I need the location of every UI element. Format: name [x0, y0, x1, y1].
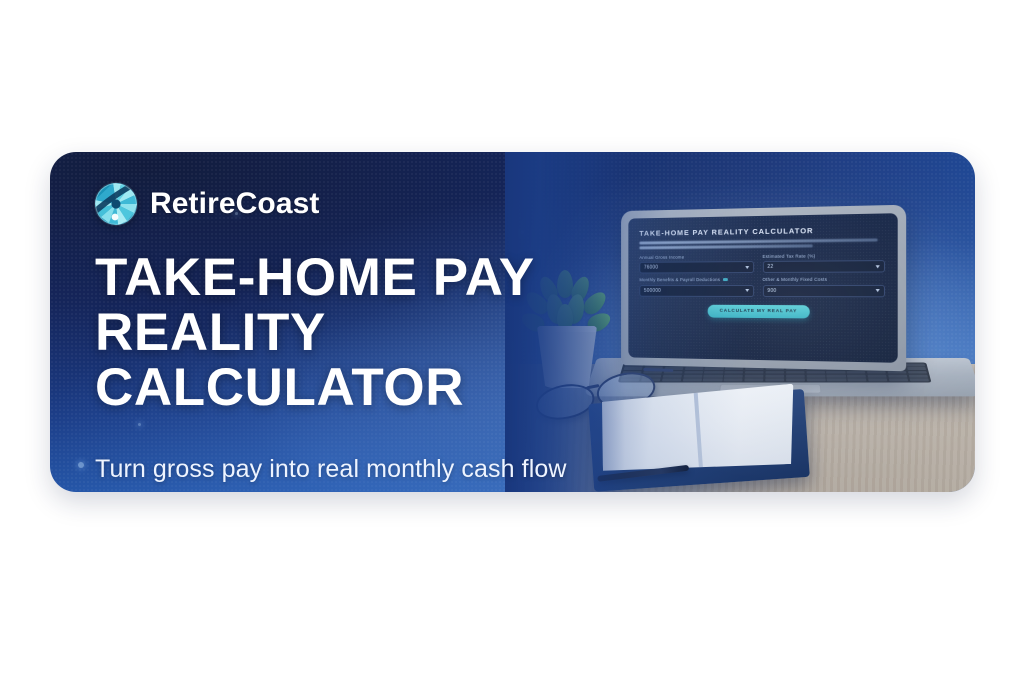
field-label: Monthly Benefits & Payroll Deductions	[639, 277, 753, 282]
bokeh-particle	[78, 462, 84, 468]
stepper-icon[interactable]	[876, 289, 880, 292]
laptop-screen: TAKE-HOME PAY REALITY CALCULATOR Annual …	[628, 213, 897, 363]
stepper-icon[interactable]	[745, 289, 749, 292]
banner-text-column: RetireCoast TAKE-HOME PAY REALITY CALCUL…	[95, 182, 655, 492]
calculate-my-real-pay-button[interactable]: CALCULATE MY REAL PAY	[708, 305, 810, 319]
laptop-lid: TAKE-HOME PAY REALITY CALCULATOR Annual …	[621, 205, 906, 372]
screen-field-other-fixed-costs[interactable]: Other & Monthly Fixed Costs 900	[762, 277, 885, 297]
field-input[interactable]: 76000	[639, 261, 753, 273]
screen-field-monthly-deductions[interactable]: Monthly Benefits & Payroll Deductions 50…	[639, 277, 753, 296]
page-title: TAKE-HOME PAY REALITY CALCULATOR	[95, 250, 655, 415]
field-value: 900	[767, 288, 776, 294]
field-label: Estimated Tax Rate (%)	[762, 253, 885, 259]
subheadline-line-1: Turn gross pay into real monthly cash fl…	[95, 455, 567, 483]
stepper-icon[interactable]	[876, 265, 880, 268]
screen-title: TAKE-HOME PAY REALITY CALCULATOR	[639, 225, 885, 238]
stepper-icon[interactable]	[745, 266, 749, 269]
screen-form-grid: Annual Gross Income 76000 Estimated Tax …	[639, 253, 885, 298]
hero-banner: TAKE-HOME PAY REALITY CALCULATOR Annual …	[50, 152, 975, 492]
page-root: TAKE-HOME PAY REALITY CALCULATOR Annual …	[0, 0, 1024, 683]
subheadline-line-2: after taxes, benefits, and recurring cos…	[95, 487, 655, 492]
field-label: Annual Gross Income	[639, 254, 753, 260]
page-subtitle: Turn gross pay into real monthly cash fl…	[95, 451, 655, 492]
field-input[interactable]: 900	[762, 285, 885, 297]
screen-field-annual-gross-income[interactable]: Annual Gross Income 76000	[639, 254, 753, 274]
headline-line-1: TAKE-HOME PAY	[95, 248, 535, 307]
screen-field-estimated-tax-rate[interactable]: Estimated Tax Rate (%) 22	[762, 253, 885, 274]
field-label: Other & Monthly Fixed Costs	[762, 277, 885, 282]
brand-name: RetireCoast	[150, 187, 319, 221]
keyboard-row	[621, 375, 928, 378]
field-input[interactable]: 22	[762, 260, 885, 273]
field-value: 22	[767, 264, 773, 270]
brand-logo[interactable]: RetireCoast	[95, 182, 655, 226]
screen-description-placeholder	[639, 238, 885, 249]
pinwheel-circle-icon	[95, 183, 137, 225]
accent-tick-icon	[723, 278, 728, 281]
notebook-spine	[694, 390, 704, 470]
keyboard-row	[620, 378, 929, 381]
field-input[interactable]: 500000	[639, 285, 753, 297]
headline-line-2: REALITY CALCULATOR	[95, 305, 655, 415]
